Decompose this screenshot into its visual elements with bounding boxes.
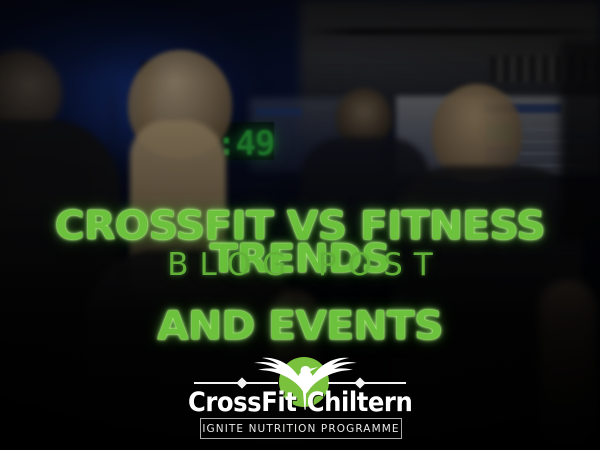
logo-rule-right bbox=[328, 382, 406, 384]
page-title-line-2: AND EVENTS bbox=[0, 310, 600, 344]
poster-content: CROSSFIT VS FITNESS TRENDS AND EVENTS BL… bbox=[0, 0, 600, 450]
page-subtitle: BLOG POST bbox=[0, 247, 600, 283]
logo-tagline-box: IGNITE NUTRITION PROGRAMME bbox=[200, 418, 402, 439]
logo-tagline: IGNITE NUTRITION PROGRAMME bbox=[202, 423, 399, 435]
poster: :49 CROSSFIT VS FITNESS TRENDS AND EVENT… bbox=[0, 0, 600, 450]
logo-wordmark-crossfit: CrossFit bbox=[188, 387, 296, 418]
brand-logo: CrossFit Chiltern IGNITE NUTRITION PROGR… bbox=[186, 355, 414, 443]
logo-wordmark-chiltern: Chiltern bbox=[306, 387, 412, 418]
